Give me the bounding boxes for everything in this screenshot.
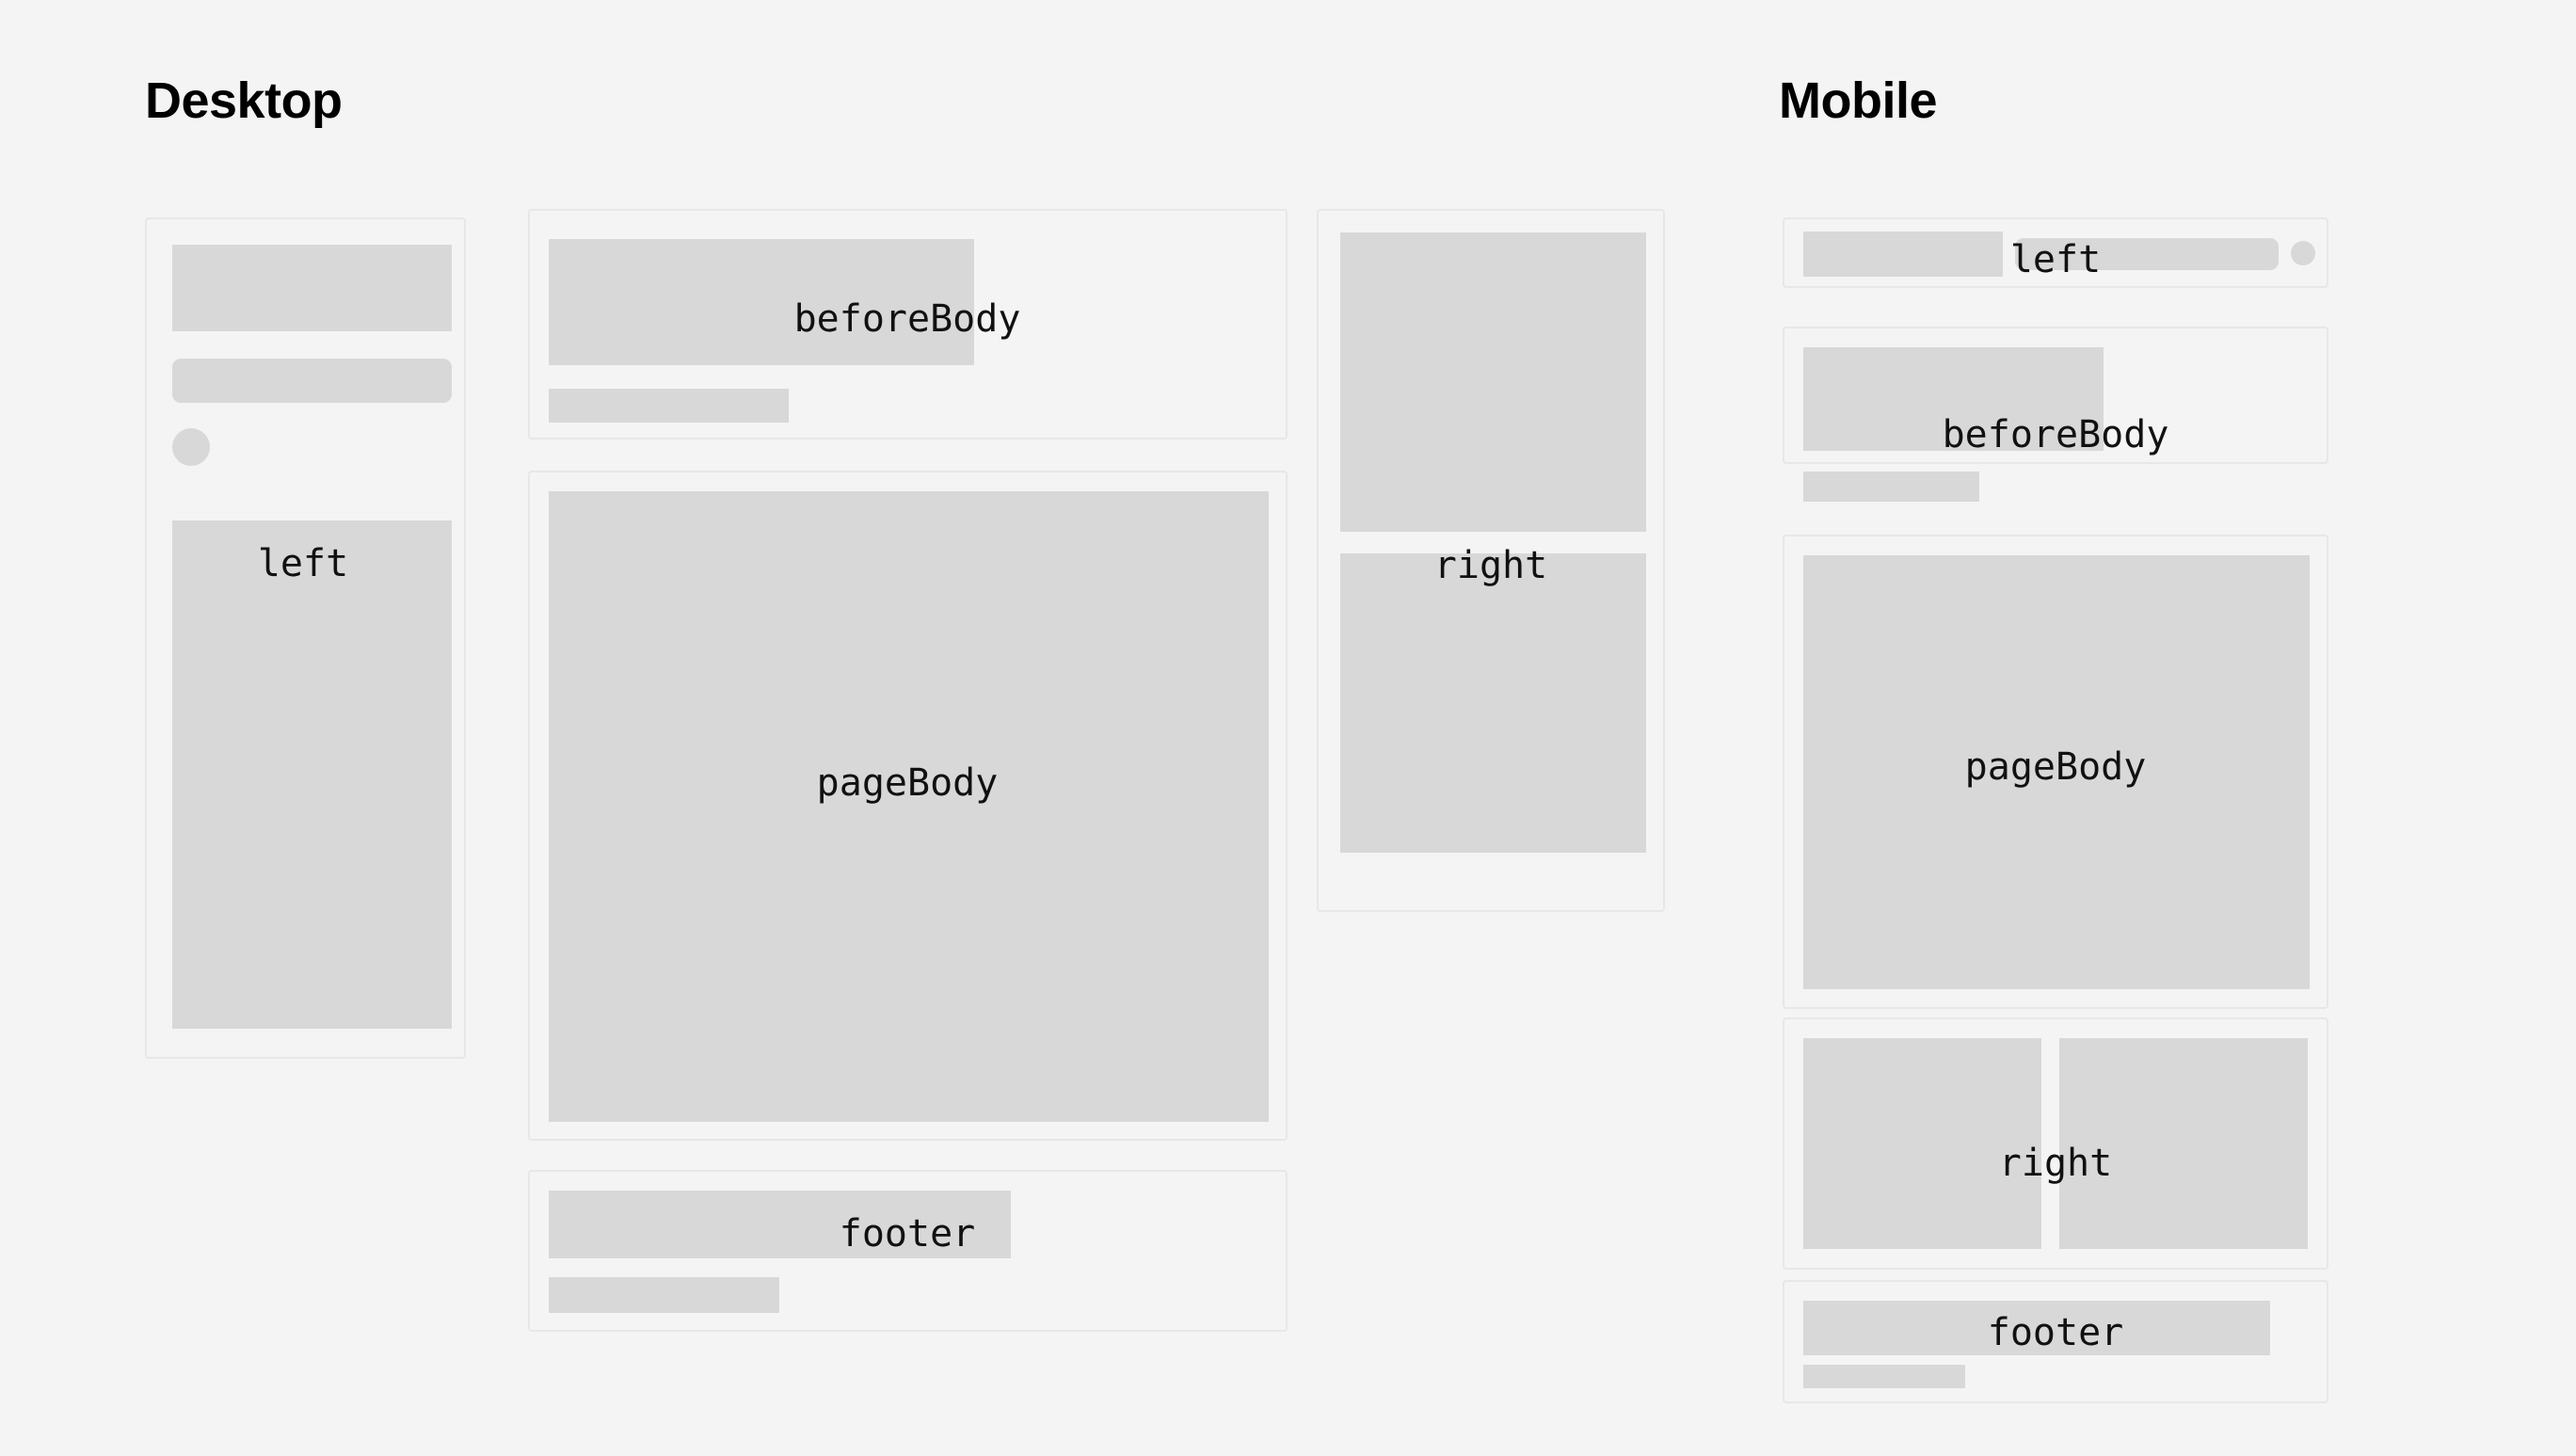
mobile-column-heading: Mobile	[1779, 75, 1937, 126]
placeholder-bar	[549, 1191, 1011, 1258]
placeholder-block	[1340, 553, 1646, 853]
placeholder-bar	[549, 389, 789, 423]
desktop-pagebody-panel[interactable]	[528, 471, 1288, 1141]
mobile-pagebody-panel[interactable]	[1783, 535, 2328, 1009]
desktop-right-panel[interactable]	[1317, 209, 1665, 912]
placeholder-avatar	[2291, 241, 2315, 265]
placeholder-block	[172, 245, 452, 331]
placeholder-bar	[2015, 238, 2279, 270]
mobile-right-panel[interactable]	[1783, 1017, 2328, 1270]
placeholder-block	[1803, 1038, 2041, 1249]
placeholder-block	[1803, 347, 2104, 451]
mobile-footer-panel[interactable]	[1783, 1280, 2328, 1403]
placeholder-bar-small	[549, 1277, 779, 1313]
mobile-beforebody-panel[interactable]	[1783, 327, 2328, 464]
placeholder-block	[1803, 232, 2003, 277]
placeholder-column	[172, 520, 452, 1029]
mobile-left-panel[interactable]	[1783, 217, 2328, 288]
placeholder-block	[1340, 232, 1646, 532]
placeholder-block	[2059, 1038, 2308, 1249]
desktop-left-panel[interactable]	[145, 217, 466, 1059]
placeholder-bar	[1803, 1301, 2270, 1355]
desktop-footer-panel[interactable]	[528, 1170, 1288, 1332]
placeholder-bar-small	[1803, 1365, 1965, 1388]
placeholder-avatar	[172, 428, 210, 466]
placeholder-block	[1803, 555, 2310, 989]
placeholder-bar	[172, 359, 452, 403]
placeholder-block	[549, 491, 1269, 1122]
wireframe-canvas: Desktop Mobile left beforeBody pageBody …	[0, 0, 2576, 1456]
placeholder-bar	[1803, 472, 1979, 502]
desktop-beforebody-panel[interactable]	[528, 209, 1288, 440]
placeholder-block	[549, 239, 974, 365]
desktop-column-heading: Desktop	[145, 75, 343, 126]
